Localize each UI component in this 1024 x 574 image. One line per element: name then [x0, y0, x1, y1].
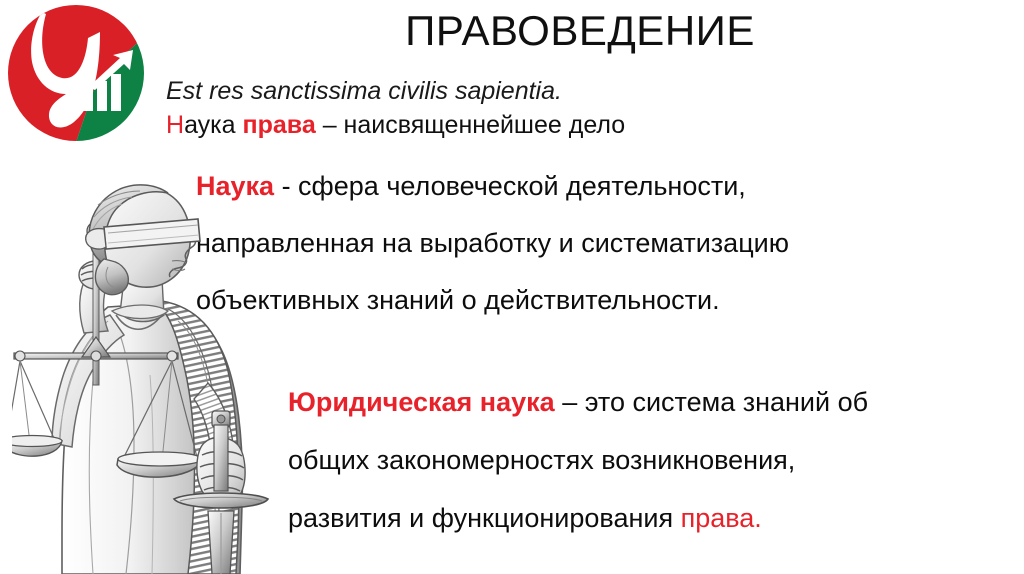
lady-justice-illustration — [12, 175, 302, 574]
university-logo — [2, 2, 150, 144]
definition-legal-science-line-1: Юридическая наука – это система знаний о… — [288, 373, 1018, 431]
motto-translation-initial: Н — [166, 111, 184, 139]
motto-translation-term: права — [243, 111, 316, 139]
definition-science-line1-rest: - сфера человеческой деятельности, — [274, 171, 746, 201]
definition-legal-science: Юридическая наука – это система знаний о… — [288, 373, 1018, 547]
definition-science-line-2: направленная на выработку и систематизац… — [196, 215, 1006, 272]
motto-translation-rest: – наисвященнейшее дело — [316, 111, 625, 139]
definition-science-line-3: объективных знаний о действительности. — [196, 272, 1006, 329]
definition-legal-science-emphasis: права. — [681, 503, 762, 533]
definition-legal-science-line3-text: развития и функционирования — [288, 503, 681, 533]
presentation-slide: ПРАВОВЕДЕНИЕ Est res sanctissima civilis… — [0, 0, 1024, 574]
definition-legal-science-term: Юридическая наука — [288, 387, 555, 417]
definition-science-line-1: Наука - сфера человеческой деятельности, — [196, 158, 1006, 215]
definition-legal-science-line-3: развития и функционирования права. — [288, 489, 1018, 547]
definition-legal-science-line-2: общих закономерностях возникновения, — [288, 431, 1018, 489]
definition-science: Наука - сфера человеческой деятельности,… — [196, 158, 1006, 329]
motto-translation: Наука права – наисвященнейшее дело — [166, 110, 625, 141]
latin-motto: Est res sanctissima civilis sapientia. — [166, 76, 562, 106]
page-title: ПРАВОВЕДЕНИЕ — [340, 6, 820, 56]
motto-translation-word: аука — [184, 111, 242, 139]
definition-legal-science-line1-rest: – это система знаний об — [555, 387, 868, 417]
